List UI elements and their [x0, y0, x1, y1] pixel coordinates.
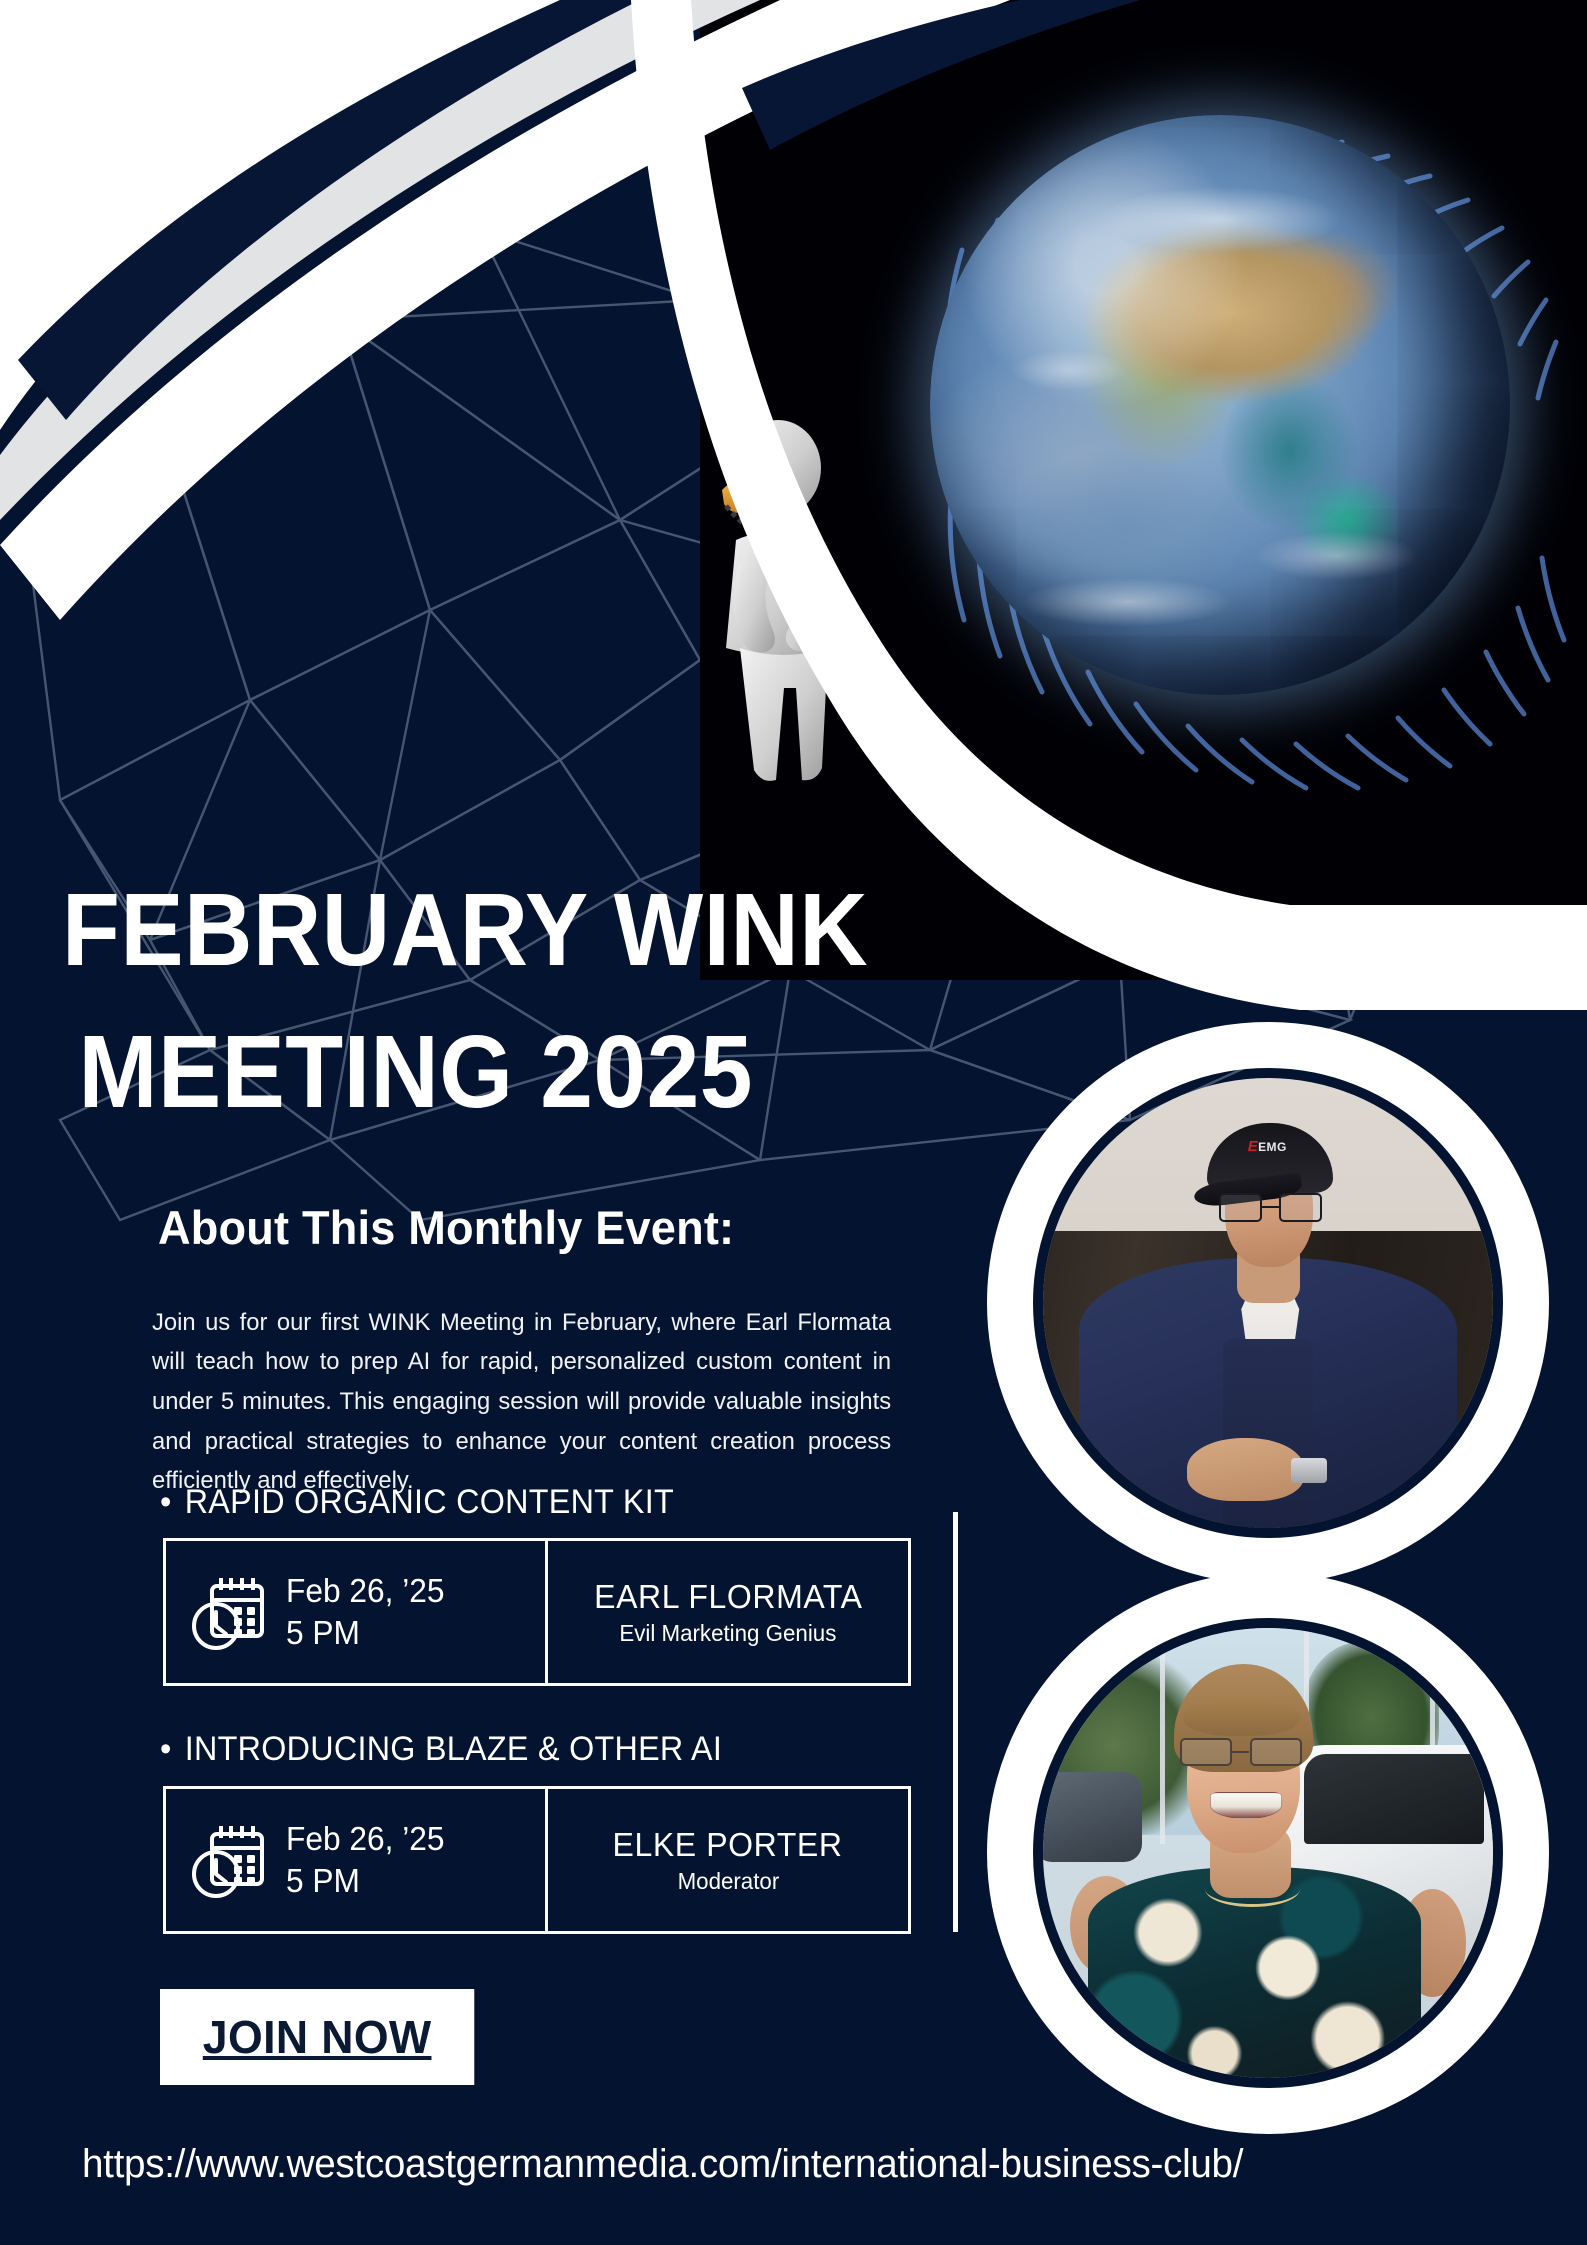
session-1-bullet-label: RAPID ORGANIC CONTENT KIT — [185, 1483, 674, 1521]
background-car — [1043, 1772, 1142, 1862]
car-window — [1304, 1754, 1484, 1844]
earl-flormata-portrait: EEMG — [1043, 1078, 1493, 1528]
session-1-date: Feb 26, ’25 — [286, 1570, 445, 1612]
eyeglasses-icon — [1180, 1738, 1302, 1766]
session-2-bullet-label: INTRODUCING BLAZE & OTHER AI — [185, 1730, 722, 1768]
session-2-info-box: Feb 26, ’25 5 PM ELKE PORTER Moderator — [163, 1786, 911, 1934]
poster-root: EEMG — [0, 0, 1587, 2245]
session-1-speaker-role: Evil Marketing Genius — [619, 1620, 836, 1647]
session-1-time: 5 PM — [286, 1612, 445, 1654]
session-1-datetime: Feb 26, ’25 5 PM — [166, 1541, 548, 1683]
session-2-datetime: Feb 26, ’25 5 PM — [166, 1789, 548, 1931]
session-1-speaker-block: EARL FLORMATA Evil Marketing Genius — [548, 1541, 908, 1683]
smile — [1210, 1792, 1282, 1819]
session-2-time: 5 PM — [286, 1860, 445, 1902]
elke-porter-portrait — [1043, 1628, 1493, 2078]
session-1-info-box: Feb 26, ’25 5 PM EARL FLORMATA Evil Mark… — [163, 1538, 911, 1686]
title-line-2: MEETING 2025 — [62, 1001, 918, 1143]
title-line-1: FEBRUARY WINK — [62, 872, 868, 987]
page-title: FEBRUARY WINK MEETING 2025 — [62, 859, 918, 1143]
session-2-speaker-name: ELKE PORTER — [613, 1826, 843, 1864]
bullet-dot-icon: • — [160, 1730, 185, 1769]
calendar-clock-icon — [192, 1820, 270, 1900]
about-heading: About This Monthly Event: — [158, 1200, 734, 1255]
join-now-button[interactable]: JOIN NOW — [160, 1989, 474, 2085]
session-1-bullet: •RAPID ORGANIC CONTENT KIT — [160, 1483, 674, 1522]
session-2-bullet: •INTRODUCING BLAZE & OTHER AI — [160, 1730, 722, 1769]
cap-logo: EEMG — [1248, 1138, 1287, 1155]
eyeglasses-icon — [1219, 1193, 1323, 1222]
calendar-clock-icon — [192, 1572, 270, 1652]
website-url[interactable]: https://www.westcoastgermanmedia.com/int… — [82, 2142, 1243, 2187]
about-body-text: Join us for our first WINK Meeting in Fe… — [152, 1303, 891, 1501]
necklace — [1205, 1871, 1300, 1907]
session-2-speaker-role: Moderator — [677, 1868, 779, 1895]
session-2-date: Feb 26, ’25 — [286, 1818, 445, 1860]
wristwatch — [1291, 1458, 1327, 1482]
bullet-dot-icon: • — [160, 1483, 185, 1522]
session-2-speaker-block: ELKE PORTER Moderator — [548, 1789, 908, 1931]
session-1-speaker-name: EARL FLORMATA — [594, 1578, 862, 1616]
clasped-hands — [1187, 1438, 1304, 1501]
bangs — [1183, 1696, 1300, 1737]
vertical-divider — [953, 1512, 958, 1932]
